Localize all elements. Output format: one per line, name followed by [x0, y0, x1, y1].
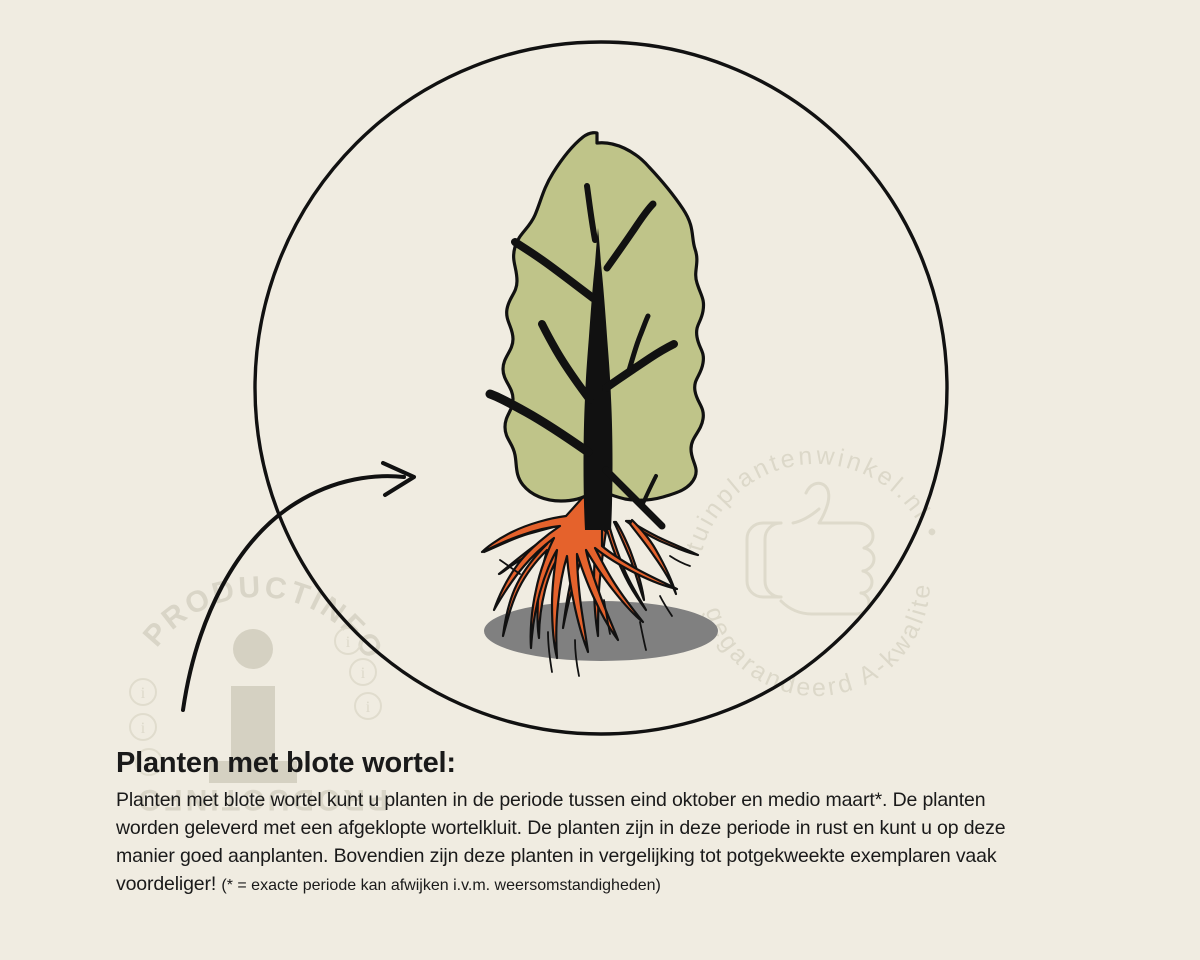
svg-text:i: i: [141, 685, 146, 702]
svg-text:tuinplantenwinkel.nl •: tuinplantenwinkel.nl •: [681, 442, 948, 555]
svg-text:i: i: [361, 665, 366, 682]
body-footnote: (* = exacte periode kan afwijken i.v.m. …: [221, 877, 660, 894]
page-title: Planten met blote wortel:: [116, 748, 1116, 780]
text-block: Planten met blote wortel: Planten met bl…: [116, 748, 1116, 898]
shop-watermark: tuinplantenwinkel.nl • gegarandeerd A-kw…: [0, 0, 947, 702]
svg-text:i: i: [141, 720, 146, 737]
product-info-card: PRODUCTINFO i i i: [0, 0, 1200, 960]
body-paragraph: Planten met blote wortel kunt u planten …: [116, 786, 1036, 898]
svg-text:i: i: [366, 699, 371, 716]
svg-text:i: i: [346, 634, 351, 651]
svg-text:gegarandeerd A-kwaliteit •: gegarandeerd A-kwaliteit •: [0, 0, 936, 702]
thumbs-up-icon: [747, 483, 874, 614]
